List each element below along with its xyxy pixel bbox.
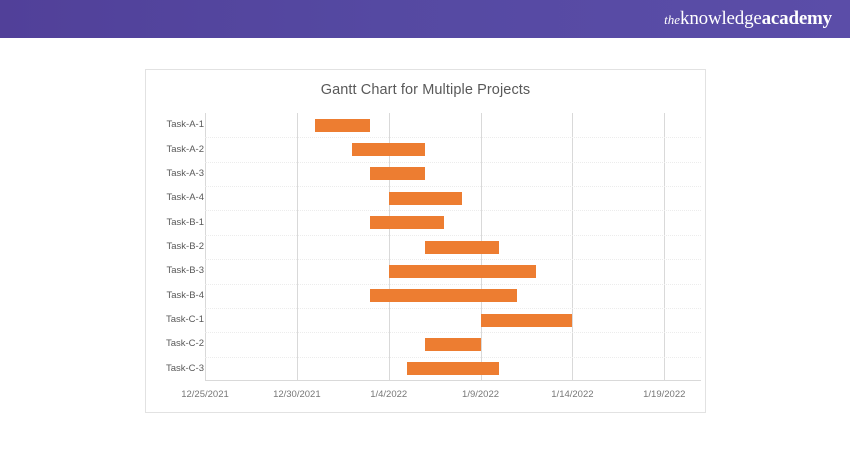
y-axis-tick-label: Task-C-2 [166, 338, 204, 350]
y-axis-tick-label: Task-B-4 [167, 290, 204, 302]
brand-logo-knowledge: knowledge [680, 8, 762, 29]
row-separator [205, 308, 701, 310]
gantt-bar[interactable] [370, 167, 425, 180]
row-separator [205, 235, 701, 237]
gantt-bar[interactable] [389, 192, 462, 205]
gantt-bar[interactable] [481, 314, 573, 327]
gantt-bar[interactable] [407, 362, 499, 375]
gridline-vertical [297, 113, 298, 381]
y-axis-tick-label: Task-C-3 [166, 363, 204, 375]
row-separator [205, 259, 701, 261]
x-axis-tick-label: 12/25/2021 [181, 389, 229, 400]
gridline-vertical [572, 113, 573, 381]
brand-logo-the: the [664, 12, 680, 27]
gantt-bar[interactable] [425, 241, 498, 254]
gantt-bar[interactable] [315, 119, 370, 132]
row-separator [205, 284, 701, 286]
y-axis-tick-label: Task-A-4 [167, 192, 204, 204]
y-axis-labels: Task-A-1Task-A-2Task-A-3Task-A-4Task-B-1… [152, 113, 204, 381]
x-axis-tick-label: 1/14/2022 [551, 389, 593, 400]
y-axis-tick-label: Task-A-1 [167, 119, 204, 131]
row-separator [205, 162, 701, 164]
gridline-vertical [664, 113, 665, 381]
chart-plot-wrapper: Task-A-1Task-A-2Task-A-3Task-A-4Task-B-1… [146, 70, 705, 412]
x-axis-tick-label: 1/9/2022 [462, 389, 499, 400]
x-axis-tick-label: 1/19/2022 [643, 389, 685, 400]
plot-area [205, 113, 701, 381]
brand-header: theknowledgeacademy [0, 0, 850, 38]
gantt-bar[interactable] [370, 289, 517, 302]
y-axis-tick-label: Task-B-2 [167, 241, 204, 253]
x-axis-tick-label: 1/4/2022 [370, 389, 407, 400]
x-axis-line [205, 380, 701, 381]
y-axis-tick-label: Task-A-3 [167, 168, 204, 180]
brand-logo: theknowledgeacademy [664, 8, 832, 30]
y-axis-tick-label: Task-B-3 [167, 265, 204, 277]
gantt-bar[interactable] [425, 338, 480, 351]
brand-logo-academy: academy [762, 8, 832, 29]
y-axis-tick-label: Task-C-1 [166, 314, 204, 326]
gantt-bar[interactable] [352, 143, 425, 156]
gantt-bar[interactable] [370, 216, 443, 229]
row-separator [205, 210, 701, 212]
row-separator [205, 357, 701, 359]
gantt-bar[interactable] [389, 265, 536, 278]
y-axis-tick-label: Task-A-2 [167, 144, 204, 156]
row-separator [205, 186, 701, 188]
x-axis-tick-label: 12/30/2021 [273, 389, 321, 400]
y-axis-tick-label: Task-B-1 [167, 217, 204, 229]
x-axis-labels: 12/25/202112/30/20211/4/20221/9/20221/14… [205, 389, 701, 405]
gantt-chart-frame: Gantt Chart for Multiple Projects Task-A… [145, 69, 706, 413]
row-separator [205, 332, 701, 334]
y-axis-line [205, 113, 206, 381]
row-separator [205, 137, 701, 139]
